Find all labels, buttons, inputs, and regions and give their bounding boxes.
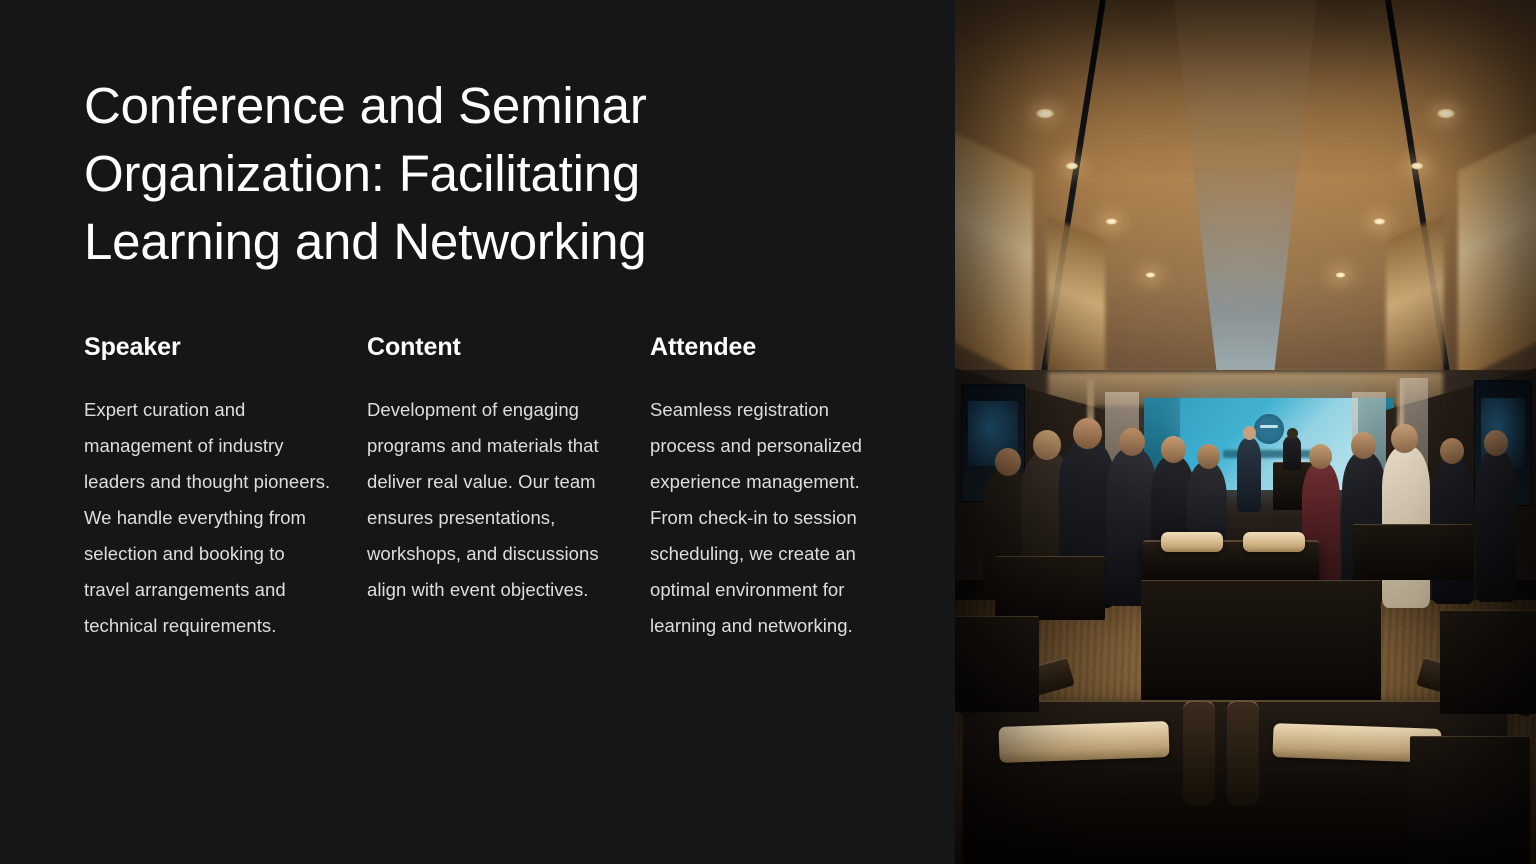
sofa-backrest-right — [1227, 700, 1259, 806]
presenter — [1237, 438, 1261, 512]
attendee-head — [1351, 432, 1376, 459]
side-table-left — [995, 556, 1105, 620]
photo-scene — [955, 0, 1536, 864]
attendee-head — [1073, 418, 1102, 449]
column-speaker: Speaker Expert curation and management o… — [84, 331, 367, 644]
column-heading-attendee: Attendee — [650, 331, 898, 363]
column-body-attendee: Seamless registration process and person… — [650, 392, 898, 644]
downlight — [1410, 162, 1424, 170]
column-body-speaker: Expert curation and management of indust… — [84, 392, 332, 644]
attendee-head — [1161, 436, 1186, 463]
attendee-head — [1033, 430, 1061, 460]
attendee-head — [1197, 444, 1220, 469]
downlight — [1335, 272, 1346, 278]
cove-light-left — [955, 129, 1033, 381]
column-heading-speaker: Speaker — [84, 331, 332, 363]
attendee-head — [1119, 428, 1145, 456]
feature-columns: Speaker Expert curation and management o… — [84, 331, 955, 644]
attendee — [1476, 450, 1516, 602]
presenter-head — [1243, 426, 1256, 440]
column-body-content: Development of engaging programs and mat… — [367, 392, 615, 608]
console-table-center — [1141, 580, 1381, 702]
cove-light-inner-left — [1047, 216, 1105, 389]
screen-logo-icon — [1254, 414, 1284, 444]
corner-table-left — [955, 616, 1039, 712]
downlight — [1065, 162, 1079, 170]
column-heading-content: Content — [367, 331, 615, 363]
slide: Conference and Seminar Organization: Fac… — [0, 0, 1536, 864]
attendee-head — [1309, 444, 1332, 469]
cove-light-inner-right — [1386, 216, 1444, 389]
side-table-right — [1353, 524, 1473, 580]
downlight — [1373, 218, 1386, 225]
attendee-head — [995, 448, 1021, 476]
attendee-head — [1440, 438, 1464, 464]
sofa-backrest-left — [1183, 700, 1215, 806]
text-pane: Conference and Seminar Organization: Fac… — [0, 0, 955, 864]
corner-table-right — [1440, 610, 1536, 714]
downlight — [1145, 272, 1156, 278]
attendee-at-lectern — [1283, 436, 1301, 470]
sofa-cushion — [998, 721, 1169, 763]
sofa-cushion — [1243, 532, 1305, 552]
attendee-head — [1391, 424, 1418, 453]
cove-light-right — [1458, 129, 1536, 381]
attendee-head — [1484, 430, 1508, 456]
sofa-cushion — [1161, 532, 1223, 552]
attendee-head — [1287, 428, 1298, 439]
column-content: Content Development of engaging programs… — [367, 331, 650, 644]
downlight — [1035, 108, 1055, 119]
page-title: Conference and Seminar Organization: Fac… — [84, 72, 814, 276]
conference-photo — [955, 0, 1536, 864]
corner-table-front-right — [1410, 736, 1530, 864]
downlight — [1436, 108, 1456, 119]
downlight — [1105, 218, 1118, 225]
column-attendee: Attendee Seamless registration process a… — [650, 331, 933, 644]
